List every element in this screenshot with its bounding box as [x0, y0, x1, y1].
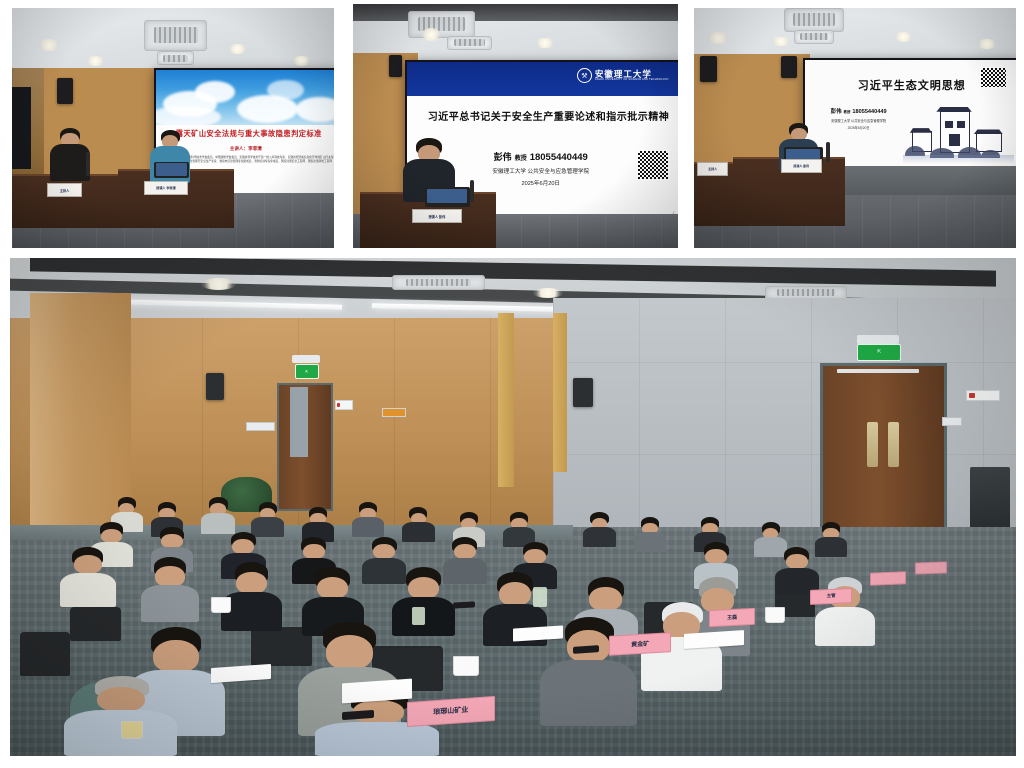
- slide-2-presenter-title: 教授: [515, 153, 527, 162]
- attendee: [583, 512, 615, 547]
- emergency-light-icon: [292, 355, 320, 363]
- ceiling-ac-vent-icon: [144, 20, 207, 51]
- university-logo-text: 安徽理工大学 ANHUI UNIVERSITY OF SCIENCE AND T…: [595, 70, 669, 81]
- nameplate-extra: [915, 561, 947, 574]
- ceiling-vent-small-icon: [447, 36, 491, 50]
- slide-3-presenter-name: 彭伟: [831, 107, 842, 115]
- ceiling-vent-small-icon: [794, 30, 835, 44]
- downlight-icon: [535, 38, 555, 48]
- wall-notice-sign: [335, 400, 353, 410]
- chair: [20, 632, 70, 677]
- wall-speaker-icon: [700, 56, 716, 82]
- downlight-icon: [86, 56, 105, 66]
- door-handle-left[interactable]: [867, 422, 878, 467]
- notebook: [513, 625, 563, 641]
- chair: [70, 607, 120, 642]
- photo-collage: Safety Training Session Photo Collage Le…: [0, 0, 1024, 768]
- slide-3-presenter-block: 彭伟 教授 18055440449 安徽理工大学 公共安全与应急管理学院 202…: [816, 107, 901, 130]
- microphone-icon: [86, 152, 90, 176]
- downlight-icon: [533, 288, 563, 298]
- downlight-icon: [201, 278, 236, 290]
- tea-cup: [121, 721, 143, 739]
- nameplate-host: 主持人: [697, 162, 728, 176]
- exit-sign-icon: ⇱: [295, 364, 319, 379]
- slide-3-date: 2025年6月20日: [816, 125, 901, 130]
- downlight-icon: [771, 37, 790, 47]
- microphone-icon: [470, 180, 474, 202]
- slide-2-affiliation: 安徽理工大学 公共安全与应急管理学院: [462, 167, 620, 175]
- notebook: [684, 630, 744, 649]
- wall-speaker-icon: [781, 56, 797, 78]
- water-bottle: [533, 587, 547, 607]
- nameplate-lecturer: 授课人 李菲清: [144, 181, 188, 195]
- equipment-rack: [12, 87, 31, 169]
- ink-wash-artwork: [903, 99, 1014, 164]
- smartphone: [453, 601, 475, 608]
- microphone-icon: [826, 142, 830, 161]
- ceiling-dark-strip: [353, 4, 678, 21]
- laptop-icon: [154, 162, 189, 179]
- nameplate-host: 主持人: [47, 183, 81, 197]
- photo-top-right[interactable]: Lecture hall with LED screen showing Xi …: [694, 8, 1016, 248]
- slide-3-presenter-title: 教授: [844, 109, 851, 114]
- attendee: [634, 517, 666, 552]
- attendee: [775, 547, 819, 594]
- slide-2-title: 习近平总书记关于安全生产重要论述和指示批示精神: [407, 112, 678, 124]
- nameplate-speaker: 授课人 彭伟: [412, 209, 463, 223]
- collage-title: Safety Training Session Photo Collage: [0, 0, 1, 1]
- downlight-icon: [228, 44, 247, 54]
- photo-bottom-wide[interactable]: Wide view of the classroom audience seat…: [10, 258, 1016, 756]
- slide-3-presenter-phone: 18055440449: [852, 109, 886, 115]
- laptop-icon: [425, 187, 471, 207]
- ceiling-ac-vent-icon: [392, 275, 485, 290]
- door-handle-right[interactable]: [888, 422, 899, 467]
- ceiling-ac-vent-icon: [784, 8, 844, 32]
- slide-2-presenter-phone: 18055440449: [530, 152, 588, 163]
- wall-switch-plate[interactable]: [942, 417, 962, 426]
- attendee: [60, 547, 115, 607]
- trash-bin: [970, 467, 1010, 532]
- slide-2-date: 2025年6月20日: [462, 179, 620, 187]
- nameplate-lecturer: 授课人 彭伟: [781, 159, 822, 173]
- attendee: [392, 567, 454, 637]
- attendee: [201, 497, 235, 534]
- exit-sign-right: 安全出口 ⇱: [857, 344, 901, 360]
- attendee-front: [70, 676, 171, 756]
- emergency-light-icon: [857, 335, 899, 344]
- water-bottle: [412, 607, 425, 625]
- no-smoking-sign: 禁止吸烟: [966, 390, 1000, 401]
- wall-trim-strip: [553, 313, 567, 472]
- head-table-left: [12, 174, 121, 229]
- slide-2-presenter-name: 彭伟: [494, 150, 512, 163]
- attendee: [402, 507, 434, 542]
- wall-trim-strip: [498, 313, 514, 487]
- attendee: [352, 502, 384, 537]
- attendee: [141, 557, 199, 622]
- downlight-icon: [292, 56, 311, 66]
- slide-sky-banner: [156, 70, 334, 125]
- qr-code-icon: [980, 67, 1008, 88]
- nameplate-wanglei: 王磊: [709, 608, 755, 627]
- nameplate-supervisor: 主管: [810, 588, 852, 605]
- slide-3-affiliation: 安徽理工大学 公共安全与应急管理学院: [816, 118, 901, 123]
- ceiling-ac-vent-icon: [408, 11, 475, 37]
- downlight-icon: [421, 28, 441, 40]
- qr-code-icon: [637, 150, 669, 180]
- wall-speaker-icon: [57, 78, 73, 104]
- nameplate-extra: [870, 571, 906, 585]
- logo-emblem-icon: ⚒: [577, 68, 592, 83]
- wall-warning-label: [382, 408, 406, 416]
- attendee: [815, 522, 847, 557]
- door-closer: [837, 369, 919, 373]
- paper-cup: [765, 607, 785, 623]
- paper-cup: [453, 656, 479, 676]
- wall-socket-plate: [246, 422, 274, 430]
- downlight-icon: [977, 39, 996, 49]
- slide-2-presenter-block: 彭伟 教授 18055440449 安徽理工大学 公共安全与应急管理学院 202…: [462, 150, 620, 187]
- paper-cup: [211, 597, 231, 613]
- door-window: [290, 387, 308, 457]
- photo-top-left[interactable]: Lecture hall with LED screen showing ope…: [12, 8, 334, 248]
- attendee: [815, 577, 875, 647]
- wall-speaker-icon: [389, 55, 402, 77]
- photo-top-center[interactable]: Speaker at podium with LED screen showin…: [353, 4, 678, 248]
- downlight-icon: [894, 32, 913, 42]
- wall-speaker-icon: [206, 373, 224, 400]
- nameplate-huangjin: 黄金矿: [609, 632, 671, 656]
- ceiling-vent-small-icon: [157, 51, 194, 65]
- wall-speaker-icon: [573, 378, 593, 408]
- university-logo: ⚒ 安徽理工大学 ANHUI UNIVERSITY OF SCIENCE AND…: [577, 68, 669, 83]
